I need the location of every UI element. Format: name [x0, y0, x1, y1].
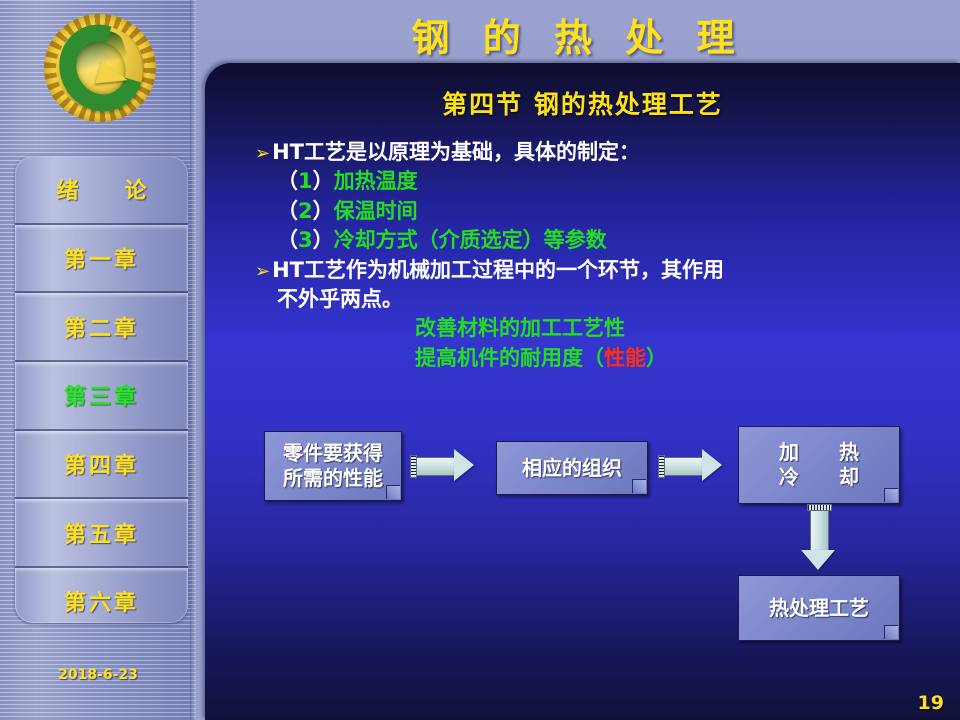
arrow-shaft: [664, 457, 705, 476]
item-number: 3: [298, 228, 313, 252]
paren-close: ）: [313, 228, 334, 252]
sidebar-item-label: 第五章: [64, 517, 139, 549]
bullet-line-1-text: 工艺是以原理为基础，具体的制定：: [304, 138, 640, 167]
sub-item-3: （3）冷却方式（介质选定）等参数: [255, 226, 945, 255]
flow-box-line: 零件要获得: [283, 441, 383, 466]
paren-open: （: [277, 169, 298, 193]
arrow-bullet-icon: ➢: [255, 145, 270, 163]
green-note-1: 改善材料的加工工艺性: [255, 314, 945, 344]
flow-box-line: 冷 却: [769, 465, 869, 490]
sidebar-item-label: 绪 论: [44, 173, 158, 205]
sidebar-item-chapter-1[interactable]: 第一章: [15, 223, 188, 292]
green-note-2-highlight: 性能: [604, 346, 646, 370]
arrow-tail: [807, 504, 832, 511]
content-panel: 第四节 钢的热处理工艺 ➢ HT 工艺是以原理为基础，具体的制定： （1）加热温…: [205, 63, 960, 720]
bullet-line-2-ht: HT: [272, 256, 304, 285]
body-text: ➢ HT 工艺是以原理为基础，具体的制定： （1）加热温度 （2）保温时间 （3…: [255, 138, 945, 374]
flow-box-line: 加 热: [769, 440, 869, 465]
sidebar-item-intro[interactable]: 绪 论: [15, 156, 188, 223]
section-heading: 第四节 钢的热处理工艺: [205, 85, 960, 121]
gear-g-logo-icon: [36, 8, 166, 128]
arrow-right-icon-1: [410, 449, 476, 481]
bullet-line-1-ht: HT: [272, 138, 304, 167]
flow-box-microstructure[interactable]: 相应的组织: [496, 441, 648, 495]
bullet-line-2-text: 工艺作为机械加工过程中的一个环节，其作用: [304, 256, 724, 285]
sidebar-item-label: 第三章: [64, 379, 139, 411]
flow-box-part-properties[interactable]: 零件要获得 所需的性能: [264, 431, 402, 501]
sidebar-item-chapter-4[interactable]: 第四章: [15, 429, 188, 498]
paren-close: ）: [313, 169, 334, 193]
arrow-bullet-icon: ➢: [255, 263, 270, 281]
arrow-shaft: [810, 510, 829, 553]
flow-box-heat-cool[interactable]: 加 热 冷 却: [738, 426, 900, 504]
item-text: 冷却方式（介质选定）等参数: [334, 228, 607, 252]
sidebar-item-label: 第一章: [64, 242, 139, 274]
presentation-slide: 绪 论 第一章 第二章 第三章 第四章 第五章 第六章 2018-6-23 钢 …: [0, 0, 960, 720]
item-text: 保温时间: [334, 199, 418, 223]
arrow-tail: [410, 455, 417, 478]
paren-open: （: [277, 228, 298, 252]
paren-close: ）: [313, 199, 334, 223]
sidebar-item-chapter-5[interactable]: 第五章: [15, 497, 188, 566]
flow-box-line: 热处理工艺: [769, 596, 869, 621]
paren-open: （: [277, 199, 298, 223]
arrow-right-icon-2: [658, 449, 724, 481]
flow-box-line: 所需的性能: [283, 466, 383, 491]
flow-box-line: 相应的组织: [522, 456, 622, 481]
bullet-line-1: ➢ HT 工艺是以原理为基础，具体的制定：: [255, 138, 945, 167]
slide-title: 钢 的 热 处 理: [196, 6, 960, 62]
page-number: 19: [918, 692, 944, 714]
arrow-head: [801, 550, 835, 570]
arrow-shaft: [416, 457, 457, 476]
arrow-head: [454, 449, 474, 481]
item-number: 1: [298, 169, 313, 193]
green-note-2-suffix: ）: [646, 346, 667, 370]
sub-item-1: （1）加热温度: [255, 167, 945, 196]
bullet-line-2-continuation: 不外乎两点。: [255, 285, 945, 314]
green-note-2: 提高机件的耐用度（性能）: [255, 344, 945, 374]
flow-box-heat-treatment-process[interactable]: 热处理工艺: [738, 575, 900, 641]
sidebar: 绪 论 第一章 第二章 第三章 第四章 第五章 第六章 2018-6-23: [0, 0, 196, 720]
arrow-down-icon-1: [801, 504, 836, 572]
sidebar-item-chapter-6[interactable]: 第六章: [15, 566, 188, 623]
green-note-1-text: 改善材料的加工工艺性: [415, 316, 625, 340]
item-number: 2: [298, 199, 313, 223]
sidebar-item-chapter-2[interactable]: 第二章: [15, 291, 188, 360]
sidebar-item-label: 第四章: [64, 448, 139, 480]
bullet-line-2: ➢ HT 工艺作为机械加工过程中的一个环节，其作用: [255, 256, 945, 285]
green-note-2-prefix: 提高机件的耐用度（: [415, 346, 604, 370]
chapter-nav[interactable]: 绪 论 第一章 第二章 第三章 第四章 第五章 第六章: [15, 156, 188, 623]
sub-item-2: （2）保温时间: [255, 197, 945, 226]
slide-date: 2018-6-23: [0, 652, 196, 698]
arrow-head: [702, 449, 722, 481]
sidebar-item-label: 第二章: [64, 311, 139, 343]
sidebar-item-label: 第六章: [64, 585, 139, 617]
sidebar-item-chapter-3[interactable]: 第三章: [15, 360, 188, 429]
item-text: 加热温度: [334, 169, 418, 193]
arrow-tail: [658, 455, 665, 478]
